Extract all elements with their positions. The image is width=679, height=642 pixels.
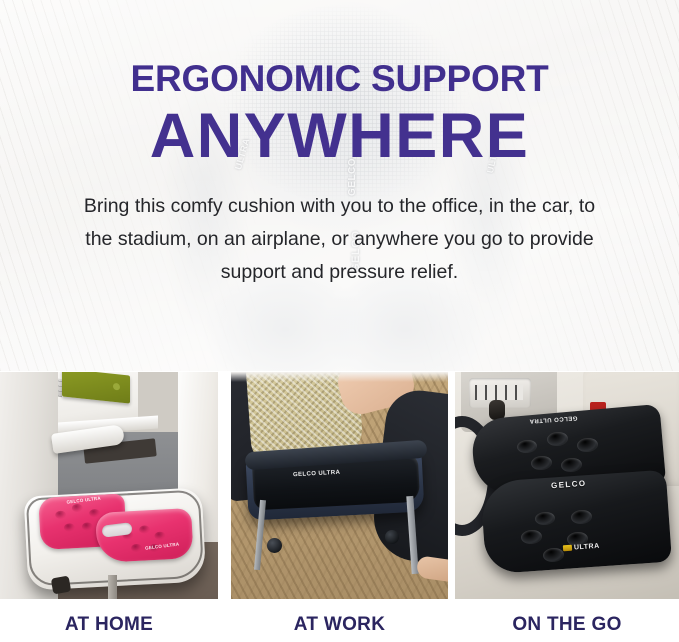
- caption-row: AT HOME AT WORK ON THE GO: [0, 599, 679, 642]
- product-feature-image: ULTRA GELCO ULTRA GELCO ERGONOMIC SUPPOR…: [0, 0, 679, 642]
- caption-on-the-go: ON THE GO: [455, 613, 679, 636]
- hero-section: ULTRA GELCO ULTRA GELCO ERGONOMIC SUPPOR…: [0, 0, 679, 371]
- hero-content: ERGONOMIC SUPPORT ANYWHERE Bring this co…: [0, 0, 679, 371]
- chair-gas-post: [108, 575, 117, 599]
- brand-badge-icon: [563, 545, 572, 552]
- caption-at-home: AT HOME: [0, 613, 218, 636]
- panel-on-the-go: GELCO ULTRA GELCO ULTRA: [455, 372, 679, 599]
- pink-gel-cushion: GELCO ULTRA GELCO ULTRA: [38, 490, 193, 568]
- scene-car-interior: GELCO ULTRA GELCO ULTRA: [455, 372, 679, 599]
- hero-subcopy: Bring this comfy cushion with you to the…: [72, 190, 608, 289]
- scene-home-office: GELCO ULTRA GELCO ULTRA: [0, 372, 218, 599]
- scene-work-office: GELCO ULTRA: [231, 372, 448, 599]
- headline-primary: ERGONOMIC SUPPORT: [130, 58, 548, 100]
- panel-at-work: GELCO ULTRA: [231, 372, 448, 599]
- chair-wheel-right: [385, 530, 399, 544]
- scene-top-highlight: [231, 372, 448, 382]
- chair-caster: [51, 576, 72, 595]
- panel-at-home: GELCO ULTRA GELCO ULTRA: [0, 372, 218, 599]
- chair-wheel-left: [267, 538, 282, 553]
- headline-secondary: ANYWHERE: [150, 102, 530, 170]
- photo-strip: GELCO ULTRA GELCO ULTRA GELCO ULTRA: [0, 372, 679, 599]
- caption-at-work: AT WORK: [231, 613, 448, 636]
